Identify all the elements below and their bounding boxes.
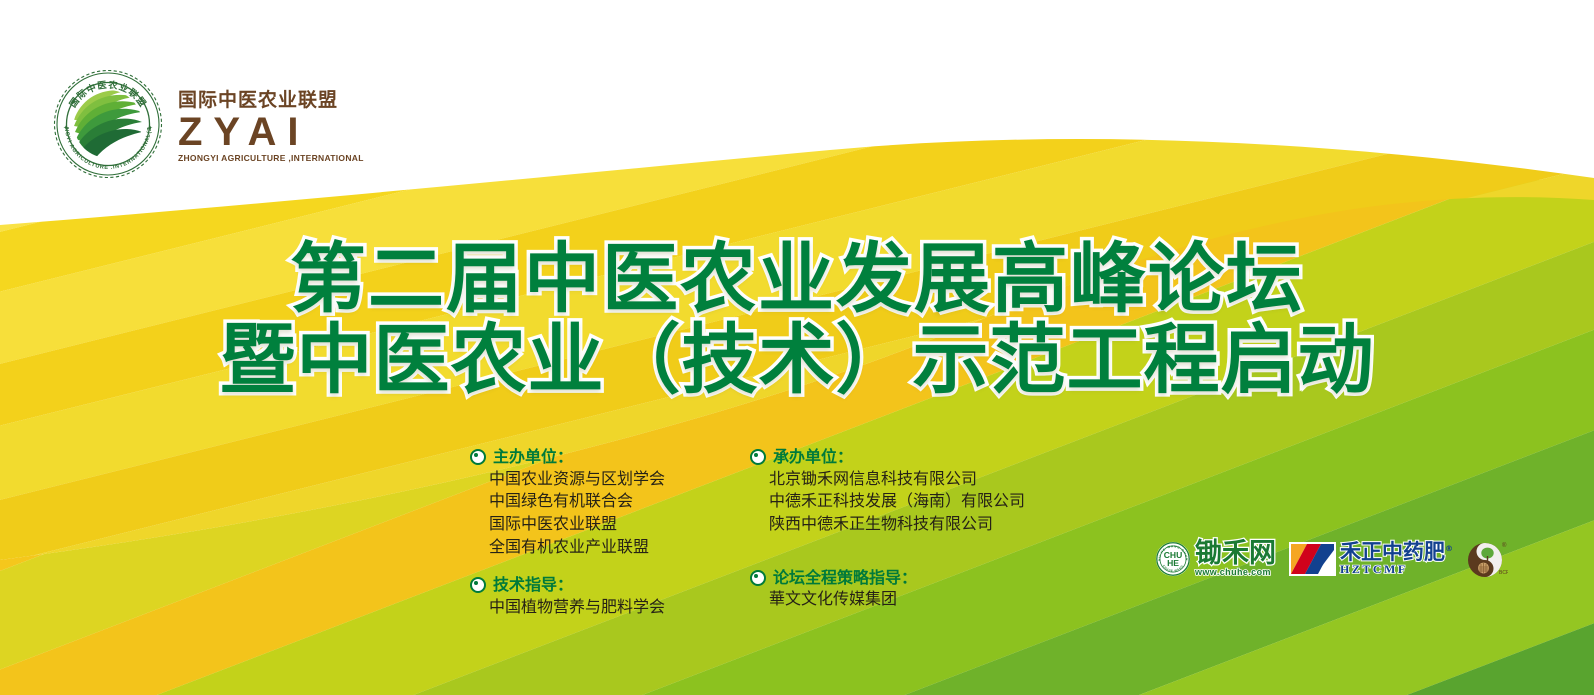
credit-item: 陕西中德禾正生物科技有限公司 (769, 513, 1050, 536)
credit-heading-label: 承办单位： (773, 446, 853, 468)
credit-item: 国际中医农业联盟 (489, 513, 750, 536)
sponsor-logo-hezheng: 禾正中药肥® HZTCMF (1289, 542, 1453, 576)
credit-item: 全国有机农业产业联盟 (489, 536, 750, 559)
chuhe-wordmark: 锄禾网 www.chuhe.com (1195, 541, 1276, 578)
hezheng-mark-icon (1289, 542, 1336, 576)
bullet-icon (750, 570, 766, 586)
bullet-icon (470, 449, 486, 465)
zyai-seal-icon: 国际中医农业联盟 ZHONGYI AGRICULTURE .INTERNATIO… (52, 68, 164, 180)
chuhe-url: www.chuhe.com (1195, 567, 1276, 577)
sponsor-logo-strip: CHU HE WANG CHUHE CHUHE WANG CHU HE 锄禾网 … (1155, 530, 1508, 588)
zyai-abbreviation: ZYAI (178, 112, 364, 152)
credits-block: 主办单位： 中国农业资源与区划学会 中国绿色有机联合会 国际中医农业联盟 全国有… (470, 446, 1050, 619)
tree-seal-icon: ® BCF (1466, 538, 1508, 580)
chuhe-name: 锄禾网 (1195, 541, 1276, 567)
credit-item: 華文文化传媒集团 (769, 588, 1050, 611)
credit-heading: 主办单位： (470, 446, 750, 468)
registered-mark: ® (1502, 542, 1507, 549)
credit-group-organizers: 主办单位： 中国农业资源与区划学会 中国绿色有机联合会 国际中医农业联盟 全国有… (470, 446, 750, 558)
credit-heading: 论坛全程策略指导： (750, 567, 1050, 589)
credit-item: 北京锄禾网信息科技有限公司 (769, 468, 1050, 491)
credit-heading: 技术指导： (470, 574, 750, 596)
hezheng-wordmark: 禾正中药肥® HZTCMF (1340, 542, 1453, 576)
poster-canvas: 国际中医农业联盟 ZHONGYI AGRICULTURE .INTERNATIO… (0, 0, 1594, 695)
sponsor-logo-tree-seal: ® BCF (1466, 538, 1508, 580)
hezheng-name: 禾正中药肥® (1340, 542, 1453, 563)
credits-column-right: 承办单位： 北京锄禾网信息科技有限公司 中德禾正科技发展（海南）有限公司 陕西中… (750, 446, 1050, 619)
credit-item: 中德禾正科技发展（海南）有限公司 (769, 490, 1050, 513)
hezheng-name-label: 禾正中药肥 (1340, 540, 1445, 564)
credit-group-technical-guidance: 技术指导： 中国植物营养与肥料学会 (470, 574, 750, 618)
svg-text:✦: ✦ (63, 124, 69, 132)
hezheng-abbr: HZTCMF (1340, 563, 1453, 576)
credit-group-strategy-guidance: 论坛全程策略指导： 華文文化传媒集团 (750, 567, 1050, 611)
svg-text:BCF: BCF (1499, 570, 1508, 576)
credit-heading-label: 论坛全程策略指导： (773, 567, 917, 589)
chuhe-seal-icon: CHU HE WANG CHUHE CHUHE WANG CHU HE (1155, 541, 1191, 577)
svg-text:HE: HE (1167, 558, 1179, 568)
credits-column-left: 主办单位： 中国农业资源与区划学会 中国绿色有机联合会 国际中医农业联盟 全国有… (470, 446, 750, 619)
credit-item: 中国绿色有机联合会 (489, 490, 750, 513)
registered-mark: ® (1445, 544, 1453, 553)
zyai-logo: 国际中医农业联盟 ZHONGYI AGRICULTURE .INTERNATIO… (52, 68, 364, 180)
zyai-logo-text: 国际中医农业联盟 ZYAI ZHONGYI AGRICULTURE ,INTER… (178, 84, 364, 163)
zyai-english-name: ZHONGYI AGRICULTURE ,INTERNATIONAL (178, 154, 364, 163)
credit-heading-label: 技术指导： (493, 574, 573, 596)
credit-item: 中国农业资源与区划学会 (489, 468, 750, 491)
credit-group-hosts: 承办单位： 北京锄禾网信息科技有限公司 中德禾正科技发展（海南）有限公司 陕西中… (750, 446, 1050, 536)
svg-text:✦: ✦ (147, 124, 153, 132)
bullet-icon (750, 449, 766, 465)
credit-heading-label: 主办单位： (493, 446, 573, 468)
credit-item: 中国植物营养与肥料学会 (489, 596, 750, 619)
bullet-icon (470, 577, 486, 593)
zyai-chinese-name: 国际中医农业联盟 (178, 90, 364, 111)
credit-heading: 承办单位： (750, 446, 1050, 468)
sponsor-logo-chuhe: CHU HE WANG CHUHE CHUHE WANG CHU HE 锄禾网 … (1155, 541, 1276, 578)
